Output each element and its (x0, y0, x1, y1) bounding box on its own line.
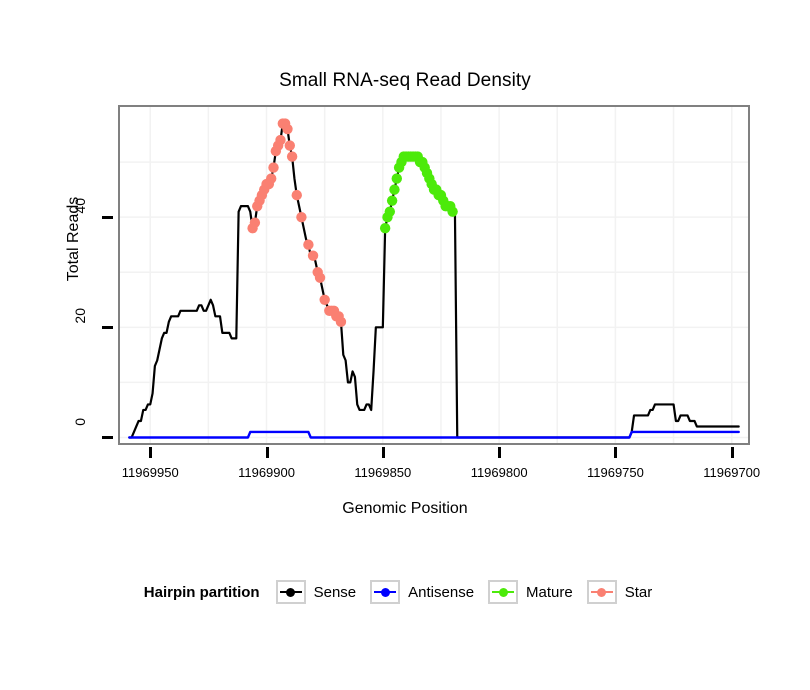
x-tick-label: 11969850 (354, 465, 411, 480)
legend: Hairpin partition SenseAntisenseMatureSt… (0, 580, 810, 604)
legend-dot (597, 588, 606, 597)
legend-item-antisense[interactable]: Antisense (370, 580, 474, 604)
legend-dot (381, 588, 390, 597)
series-antisense (129, 432, 738, 438)
legend-items: SenseAntisenseMatureStar (276, 580, 667, 604)
legend-label: Antisense (408, 584, 474, 601)
legend-key-star-icon (587, 580, 617, 604)
page-title: Small RNA-seq Read Density (0, 70, 810, 92)
legend-dot (499, 588, 508, 597)
series-mature (380, 151, 458, 233)
x-tick-mark (382, 447, 385, 458)
x-tick-mark (731, 447, 734, 458)
legend-key-antisense-icon (370, 580, 400, 604)
legend-label: Sense (314, 584, 357, 601)
x-tick-mark (149, 447, 152, 458)
legend-key-mature-icon (488, 580, 518, 604)
chart-page: Small RNA-seq Read Density Total Reads G… (0, 0, 810, 690)
x-tick-mark (498, 447, 501, 458)
x-tick-mark (266, 447, 269, 458)
legend-label: Mature (526, 584, 573, 601)
legend-title: Hairpin partition (144, 584, 260, 601)
x-axis-title: Genomic Position (0, 500, 810, 518)
y-tick-label: 40 (72, 198, 88, 234)
legend-item-star[interactable]: Star (587, 580, 653, 604)
x-tick-mark (614, 447, 617, 458)
x-tick-label: 11969950 (122, 465, 179, 480)
plot-inner (120, 107, 748, 443)
x-tick-label: 11969900 (238, 465, 295, 480)
y-tick-mark (102, 216, 113, 219)
legend-dot (286, 588, 295, 597)
series-sense (129, 124, 738, 438)
legend-item-sense[interactable]: Sense (276, 580, 357, 604)
legend-key-sense-icon (276, 580, 306, 604)
legend-item-mature[interactable]: Mature (488, 580, 573, 604)
x-tick-label: 11969800 (471, 465, 528, 480)
y-tick-label: 0 (72, 418, 88, 454)
y-tick-label: 20 (72, 308, 88, 344)
legend-label: Star (625, 584, 653, 601)
read-density-plot (120, 107, 748, 443)
x-tick-label: 11969700 (703, 465, 760, 480)
y-tick-mark (102, 326, 113, 329)
gridlines (120, 107, 748, 443)
y-tick-mark (102, 436, 113, 439)
series-star (247, 118, 346, 327)
plot-area (118, 105, 750, 445)
x-tick-label: 11969750 (587, 465, 644, 480)
